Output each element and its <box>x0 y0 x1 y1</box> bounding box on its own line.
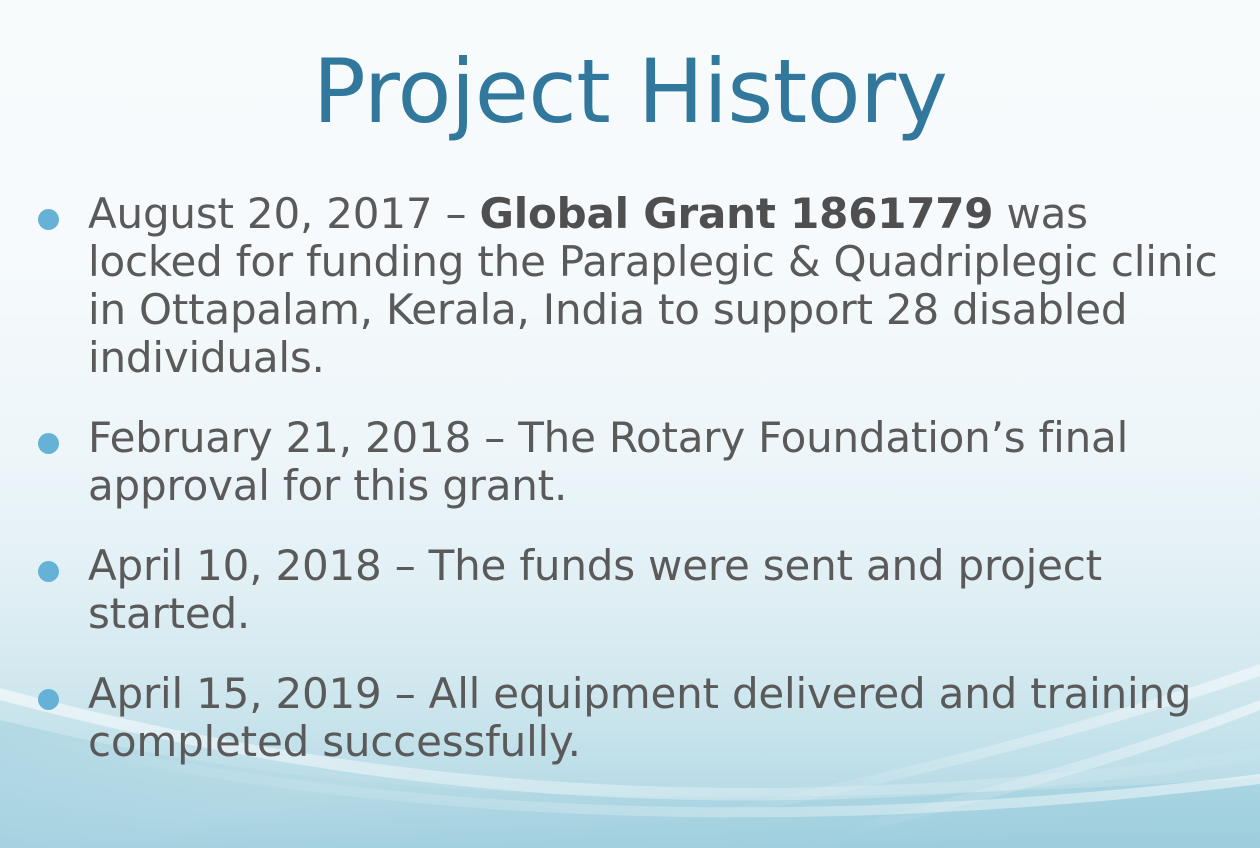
disc-bullet-icon <box>38 561 59 582</box>
bullet-text-3: April 10, 2018 – The funds were sent and… <box>88 541 1102 638</box>
slide-bullet-list: August 20, 2017 – Global Grant 1861779 w… <box>30 190 1230 766</box>
bullet-text-1: August 20, 2017 – Global Grant 1861779 w… <box>88 189 1217 382</box>
slide-title: Project History <box>0 46 1260 138</box>
bullet-item-3: April 10, 2018 – The funds were sent and… <box>30 542 1230 638</box>
disc-bullet-icon <box>38 209 59 230</box>
disc-bullet-icon <box>38 433 59 454</box>
bullet-text-4: April 15, 2019 – All equipment delivered… <box>88 669 1191 766</box>
presentation-slide: Project History August 20, 2017 – Global… <box>0 0 1260 848</box>
disc-bullet-icon <box>38 689 59 710</box>
bullet-text-2: February 21, 2018 – The Rotary Foundatio… <box>88 413 1128 510</box>
bullet-item-1: August 20, 2017 – Global Grant 1861779 w… <box>30 190 1230 382</box>
bullet-item-2: February 21, 2018 – The Rotary Foundatio… <box>30 414 1230 510</box>
bullet-item-4: April 15, 2019 – All equipment delivered… <box>30 670 1230 766</box>
